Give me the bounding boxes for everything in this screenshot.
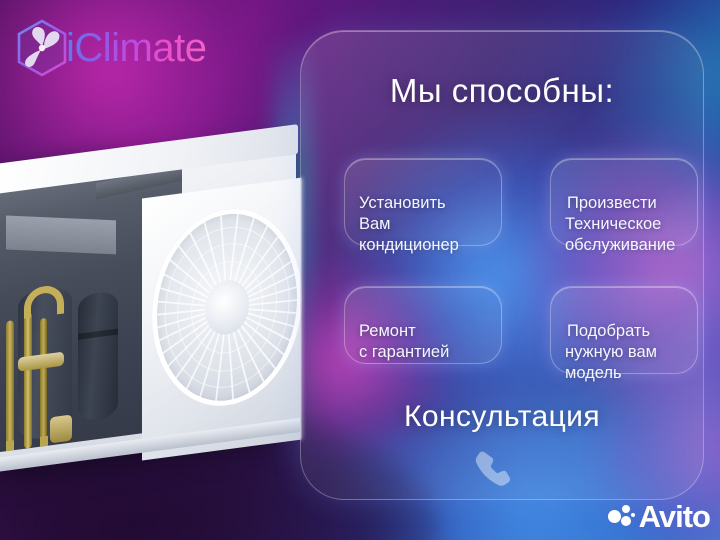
banner-canvas: iClimate Мы способны: Устано [0, 0, 720, 540]
grain-overlay [0, 0, 720, 540]
